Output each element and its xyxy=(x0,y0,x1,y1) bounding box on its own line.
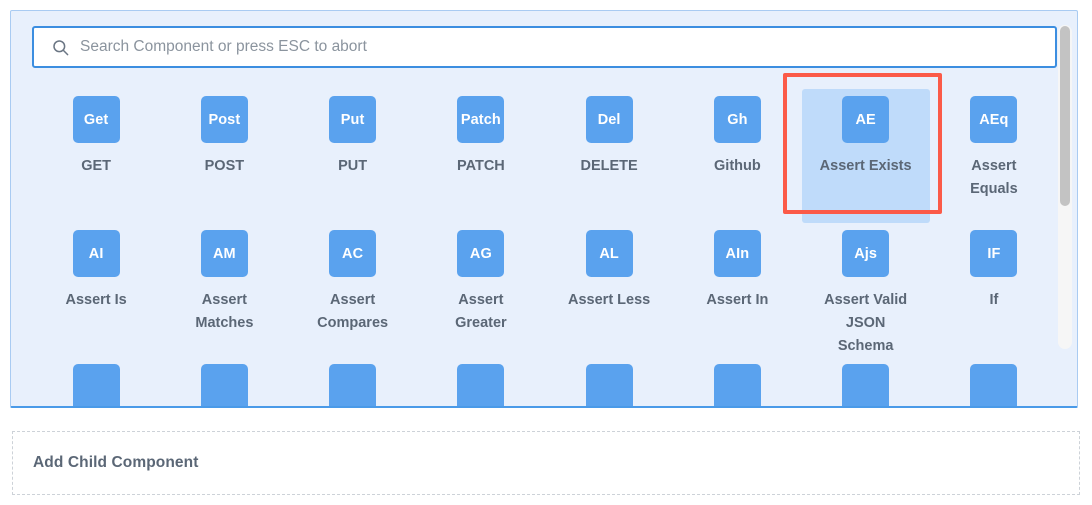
component-icon-tile: AIn xyxy=(714,230,761,277)
component-icon-tile xyxy=(714,364,761,406)
component-icon-tile: AE xyxy=(842,96,889,143)
component-label: Github xyxy=(689,155,785,178)
component-label: Assert Greater xyxy=(433,289,529,335)
component-label: Assert Equals xyxy=(946,155,1042,201)
component-label: POST xyxy=(176,155,272,178)
component-label: GET xyxy=(48,155,144,178)
component-grid: GetGETPostPOSTPutPUTPatchPATCHDelDELETEG… xyxy=(12,83,1058,406)
component-item-assert-compares[interactable]: ACAssert Compares xyxy=(289,223,417,357)
component-label: If xyxy=(946,289,1042,312)
component-label: Assert In xyxy=(689,289,785,312)
component-item-assert-valid-json-schema[interactable]: AjsAssert Valid JSON Schema xyxy=(802,223,930,357)
component-item[interactable] xyxy=(417,357,545,406)
component-label: Assert Matches xyxy=(176,289,272,335)
grid-scrollbar-track[interactable] xyxy=(1058,25,1072,349)
component-icon-tile: Patch xyxy=(457,96,504,143)
component-item-if[interactable]: IFIf xyxy=(930,223,1058,357)
component-item[interactable] xyxy=(545,357,673,406)
component-grid-viewport: GetGETPostPOSTPutPUTPatchPATCHDelDELETEG… xyxy=(12,83,1076,406)
component-item-assert-in[interactable]: AInAssert In xyxy=(673,223,801,357)
component-label: Assert Less xyxy=(561,289,657,312)
component-item[interactable] xyxy=(802,357,930,406)
component-picker-screen: GetGETPostPOSTPutPUTPatchPATCHDelDELETEG… xyxy=(0,0,1092,505)
component-item[interactable] xyxy=(160,357,288,406)
component-label: PUT xyxy=(305,155,401,178)
component-icon-tile xyxy=(329,364,376,406)
component-icon-tile xyxy=(201,364,248,406)
component-item-github[interactable]: GhGithub xyxy=(673,89,801,223)
component-label: PATCH xyxy=(433,155,529,178)
component-item-assert-is[interactable]: AIAssert Is xyxy=(32,223,160,357)
component-label: Assert Is xyxy=(48,289,144,312)
component-icon-tile: Post xyxy=(201,96,248,143)
component-item-assert-exists[interactable]: AEAssert Exists xyxy=(802,89,930,223)
search-input[interactable] xyxy=(80,32,1055,62)
component-icon-tile: Put xyxy=(329,96,376,143)
component-icon-tile: Del xyxy=(586,96,633,143)
add-child-component-button[interactable]: Add Child Component xyxy=(12,431,1080,495)
component-item-post[interactable]: PostPOST xyxy=(160,89,288,223)
component-icon-tile: AL xyxy=(586,230,633,277)
component-icon-tile: Gh xyxy=(714,96,761,143)
component-item-get[interactable]: GetGET xyxy=(32,89,160,223)
grid-scrollbar-thumb[interactable] xyxy=(1060,26,1070,206)
component-icon-tile xyxy=(73,364,120,406)
search-box[interactable] xyxy=(32,26,1057,68)
component-icon-tile: AI xyxy=(73,230,120,277)
component-item-delete[interactable]: DelDELETE xyxy=(545,89,673,223)
component-label: Assert Exists xyxy=(818,155,914,178)
component-item[interactable] xyxy=(289,357,417,406)
component-item[interactable] xyxy=(673,357,801,406)
component-item[interactable] xyxy=(32,357,160,406)
component-icon-tile: IF xyxy=(970,230,1017,277)
component-label: Assert Valid JSON Schema xyxy=(818,289,914,358)
component-item-assert-matches[interactable]: AMAssert Matches xyxy=(160,223,288,357)
component-item-patch[interactable]: PatchPATCH xyxy=(417,89,545,223)
component-item-put[interactable]: PutPUT xyxy=(289,89,417,223)
component-icon-tile: Ajs xyxy=(842,230,889,277)
component-icon-tile: AEq xyxy=(970,96,1017,143)
component-icon-tile xyxy=(586,364,633,406)
component-icon-tile: AM xyxy=(201,230,248,277)
component-item-assert-greater[interactable]: AGAssert Greater xyxy=(417,223,545,357)
component-label: Assert Compares xyxy=(305,289,401,335)
component-icon-tile: AG xyxy=(457,230,504,277)
component-item[interactable] xyxy=(930,357,1058,406)
component-icon-tile xyxy=(842,364,889,406)
search-icon xyxy=(50,37,70,57)
component-label: DELETE xyxy=(561,155,657,178)
component-picker-panel: GetGETPostPOSTPutPUTPatchPATCHDelDELETEG… xyxy=(10,10,1078,408)
component-item-assert-less[interactable]: ALAssert Less xyxy=(545,223,673,357)
component-icon-tile xyxy=(457,364,504,406)
component-icon-tile: Get xyxy=(73,96,120,143)
component-item-assert-equals[interactable]: AEqAssert Equals xyxy=(930,89,1058,223)
component-icon-tile: AC xyxy=(329,230,376,277)
add-child-component-label: Add Child Component xyxy=(33,454,198,472)
component-icon-tile xyxy=(970,364,1017,406)
